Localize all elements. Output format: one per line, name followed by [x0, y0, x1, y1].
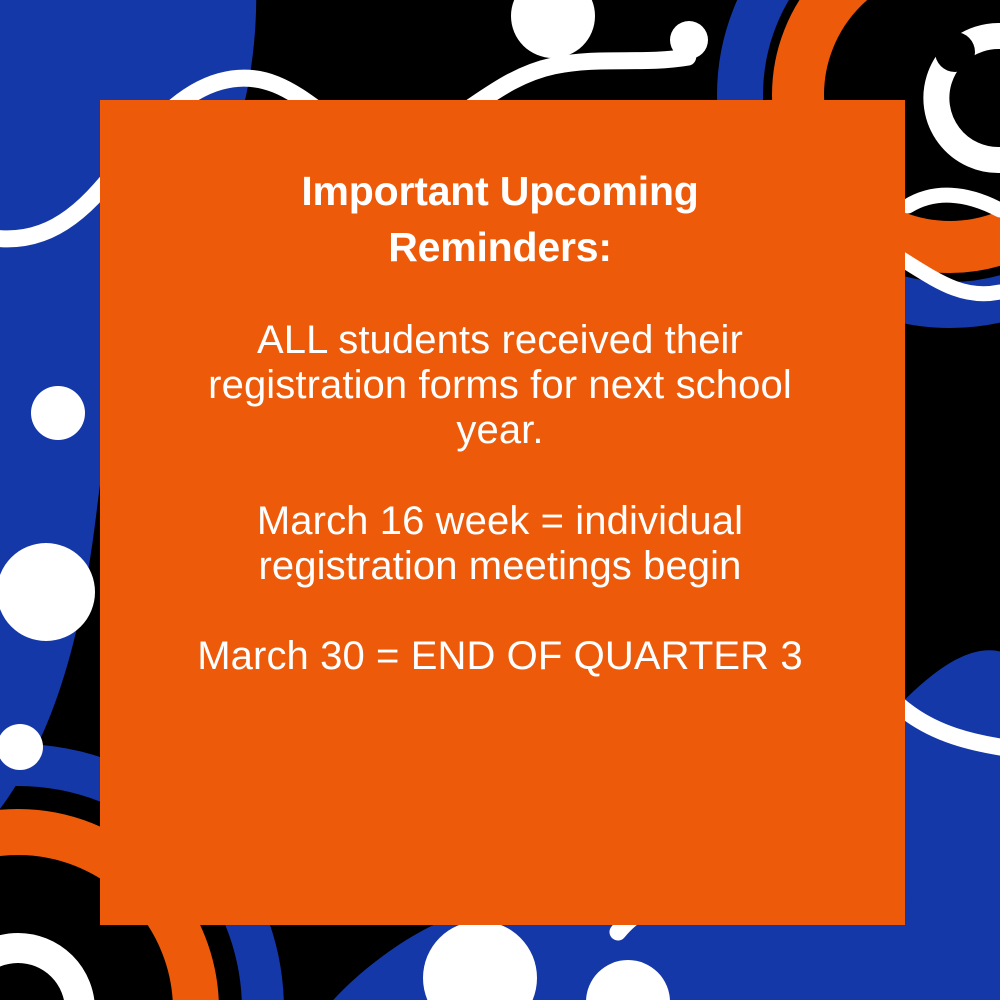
- dot-left-large: [0, 543, 95, 641]
- dot-top-small: [670, 21, 708, 59]
- reminder-paragraph-march-16: March 16 week = individual registration …: [190, 499, 810, 589]
- dot-left-upper: [31, 386, 85, 440]
- spiral-center-dot: [935, 32, 975, 72]
- reminder-paragraph-march-30: March 30 = END OF QUARTER 3: [120, 634, 880, 679]
- reminder-paragraph-students-forms: ALL students received their registration…: [200, 318, 800, 453]
- page-title: Important Upcoming Reminders:: [265, 163, 735, 275]
- poster-canvas: Important Upcoming Reminders: ALL studen…: [0, 0, 1000, 1000]
